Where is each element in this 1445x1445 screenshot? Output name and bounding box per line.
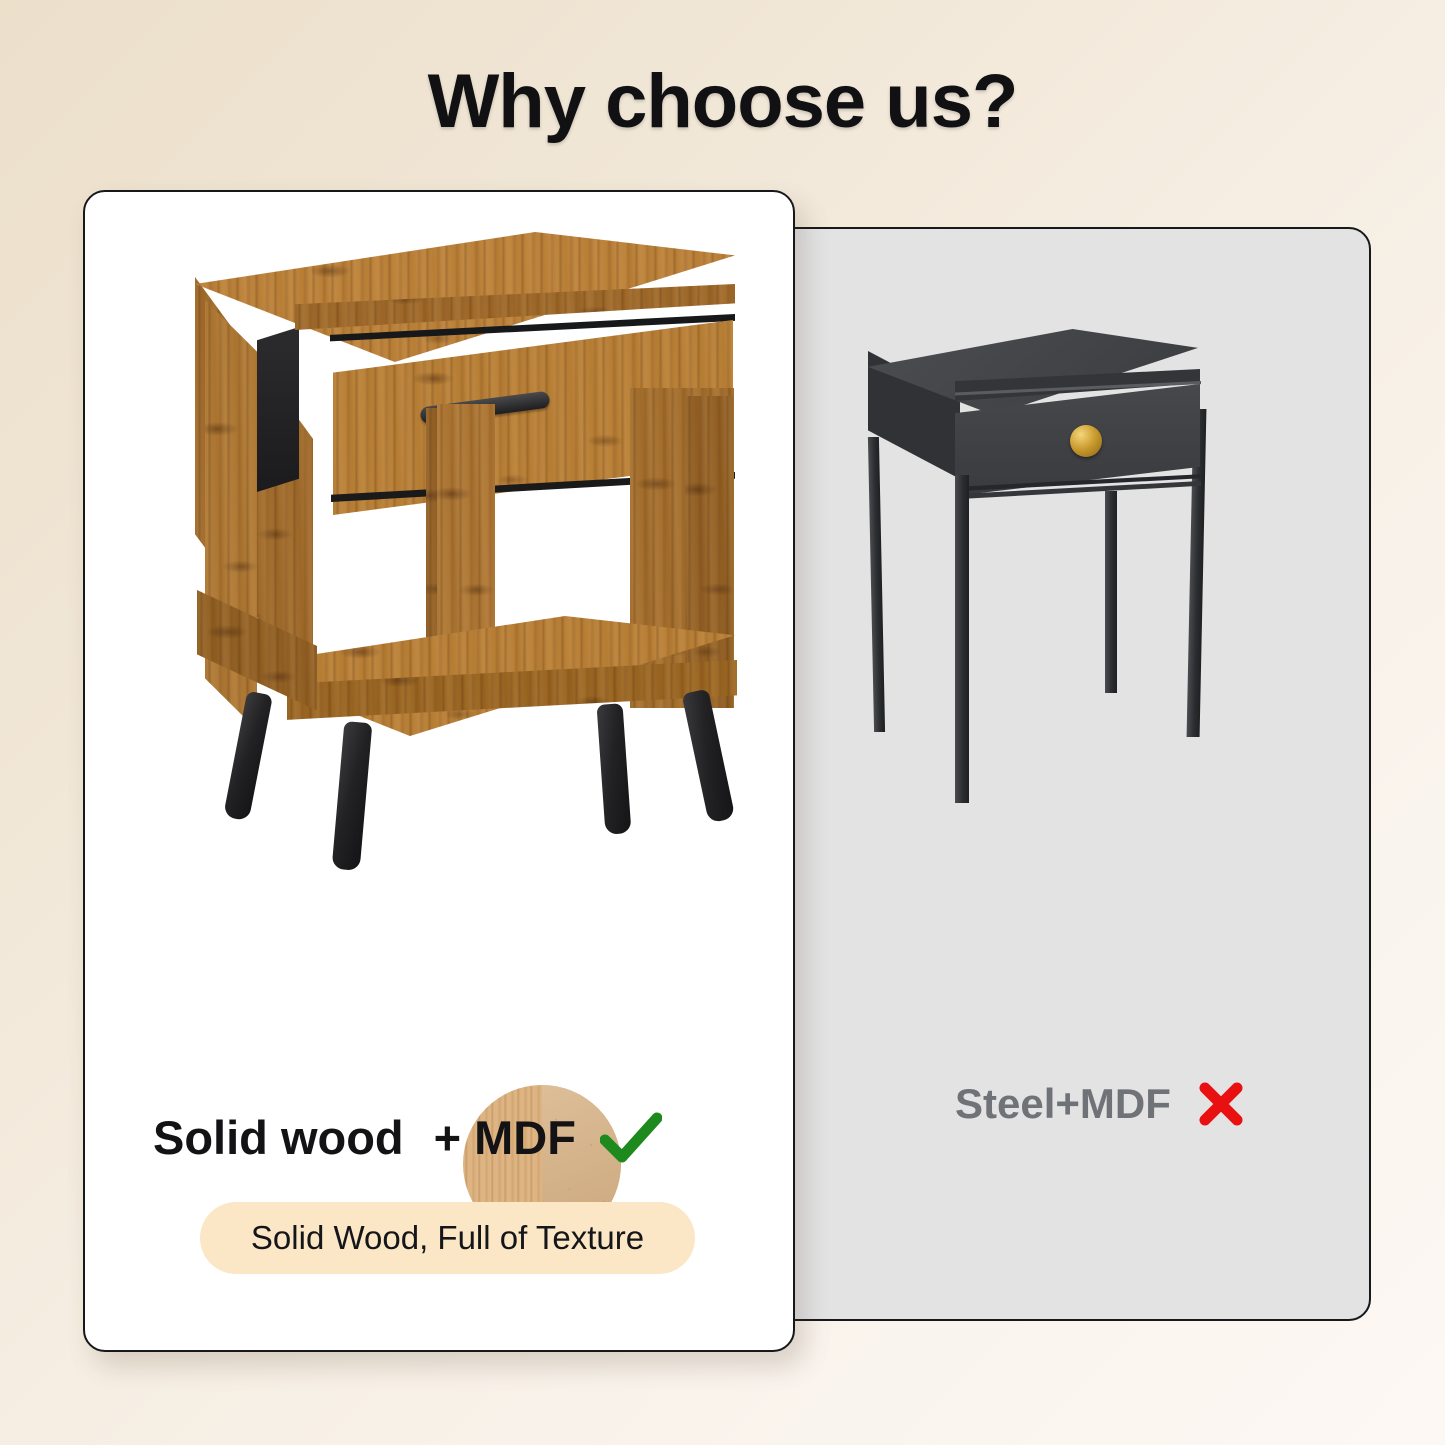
steel-leg-back-left bbox=[868, 437, 885, 732]
wood-inner-recess bbox=[257, 327, 299, 492]
page-title: Why choose us? bbox=[0, 58, 1445, 145]
wood-nightstand-image bbox=[85, 192, 795, 892]
solid-wood-caption-row: Solid wood + MDF bbox=[145, 1110, 765, 1165]
wood-leg-front-left bbox=[332, 721, 373, 871]
wood-leg-back-left bbox=[223, 691, 273, 822]
wood-leg-front-right bbox=[596, 703, 631, 834]
steel-mdf-label: Steel+MDF bbox=[955, 1080, 1171, 1128]
steel-leg-front-right bbox=[1105, 491, 1117, 693]
wood-leg-back-right bbox=[682, 689, 736, 824]
steel-leg-front-left bbox=[955, 475, 969, 803]
check-icon bbox=[600, 1112, 662, 1164]
infographic-canvas: Why choose us? bbox=[0, 0, 1445, 1445]
solid-wood-badge-label: Solid Wood, Full of Texture bbox=[251, 1219, 644, 1257]
our-product-panel bbox=[83, 190, 795, 1352]
steel-mdf-caption-row: Steel+MDF bbox=[955, 1080, 1245, 1128]
solid-wood-badge: Solid Wood, Full of Texture bbox=[200, 1202, 695, 1274]
brass-knob-icon bbox=[1070, 425, 1102, 457]
plus-mdf-text: + MDF bbox=[434, 1110, 576, 1165]
cross-icon bbox=[1197, 1080, 1245, 1128]
solid-wood-highlight-text: Solid wood bbox=[145, 1110, 412, 1165]
